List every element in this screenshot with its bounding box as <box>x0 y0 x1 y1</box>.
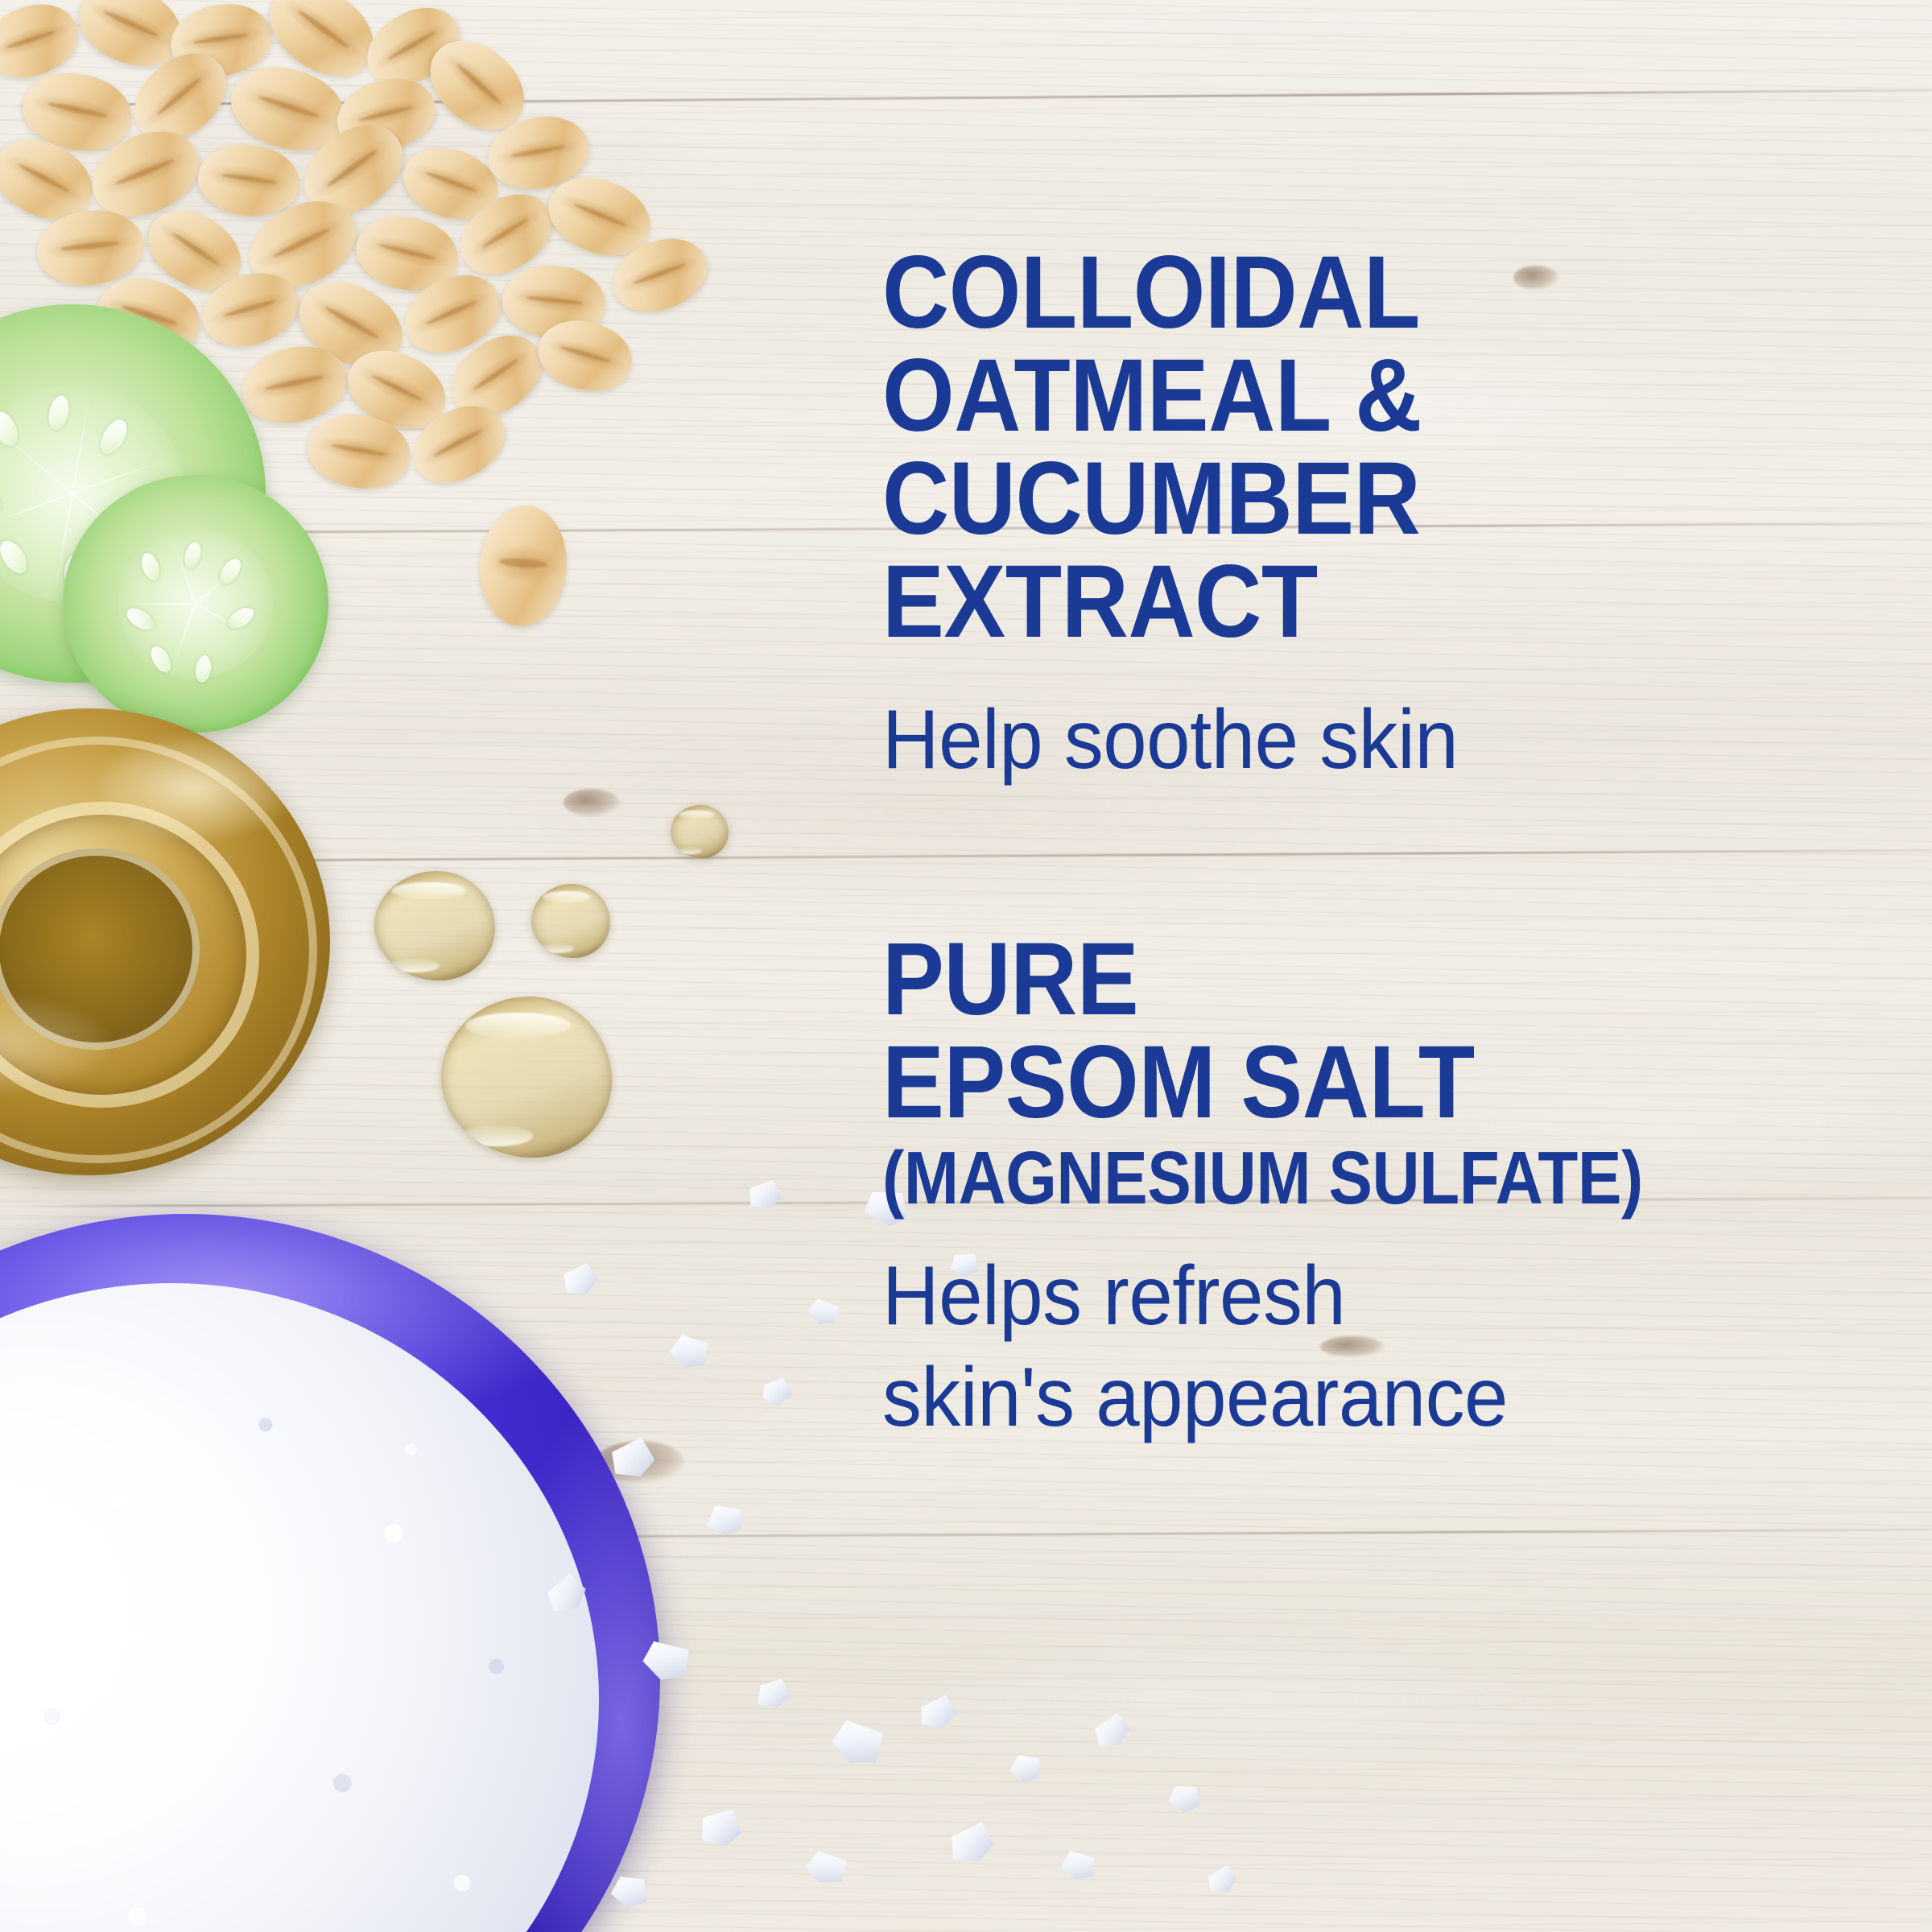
bottle-highlight <box>98 737 291 840</box>
ingredient-copy: COLLOIDAL OATMEAL & CUCUMBER EXTRACT Hel… <box>882 242 1880 1449</box>
headline-epsom-salt: PURE EPSOM SALT <box>882 928 1781 1134</box>
salt-bowl <box>0 1214 660 1932</box>
ingredient-block-oatmeal-cucumber: COLLOIDAL OATMEAL & CUCUMBER EXTRACT Hel… <box>882 242 1880 791</box>
ingredient-block-epsom-salt: PURE EPSOM SALT (MAGNESIUM SULFATE) Help… <box>882 928 1880 1449</box>
salt-sheen <box>0 1283 599 1932</box>
subtext-epsom-salt: Helps refresh skin's appearance <box>882 1245 1821 1450</box>
oil-droplet <box>441 997 612 1158</box>
subtext-oatmeal-cucumber: Help soothe skin <box>882 689 1821 791</box>
oil-droplet <box>531 884 610 958</box>
oil-droplet <box>374 871 495 980</box>
product-ingredient-panel: COLLOIDAL OATMEAL & CUCUMBER EXTRACT Hel… <box>0 0 1932 1932</box>
cucumber-slice <box>63 475 328 733</box>
qualifier-magnesium-sulfate: (MAGNESIUM SULFATE) <box>882 1139 1761 1218</box>
bowl-salt-fill <box>0 1283 599 1932</box>
headline-oatmeal-cucumber: COLLOIDAL OATMEAL & CUCUMBER EXTRACT <box>882 242 1781 654</box>
wood-knot <box>563 789 620 816</box>
oil-droplet <box>671 805 729 858</box>
